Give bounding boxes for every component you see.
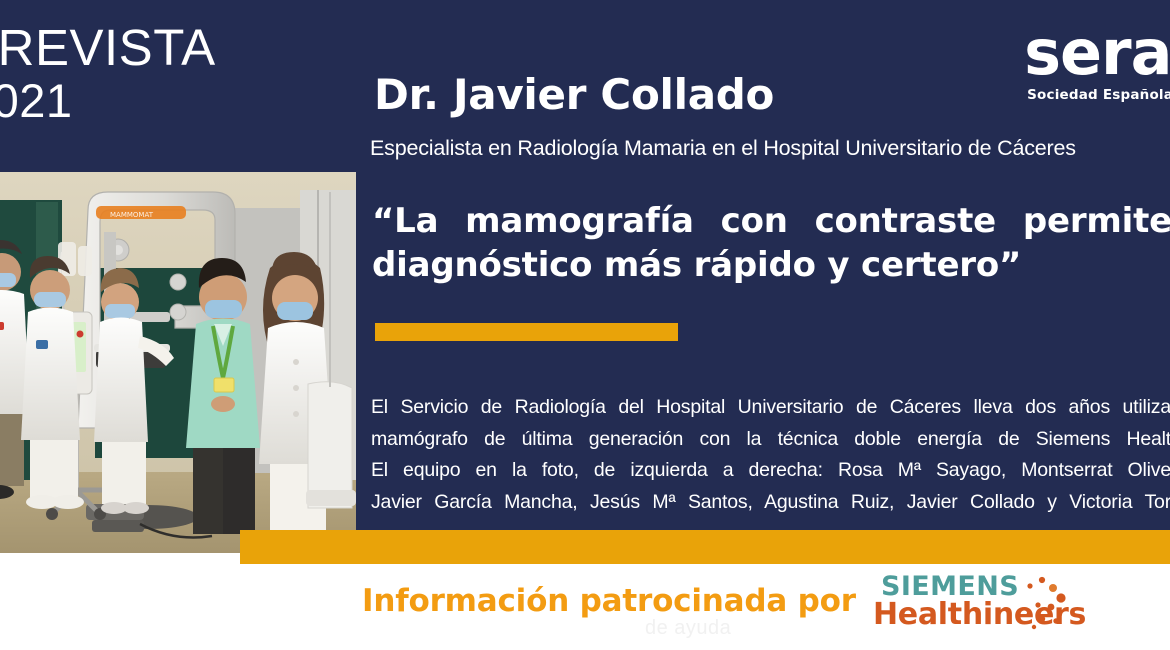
body-copy-line-2: mamógrafo de última generación con la té… xyxy=(371,424,1170,456)
sponsor-accent-bar xyxy=(240,530,1170,564)
masthead: TREVISTA 2021 xyxy=(0,22,306,124)
body-copy-line-4: Javier García Mancha, Jesús Mª Santos, A… xyxy=(371,487,1170,519)
masthead-year: 2021 xyxy=(0,77,306,124)
masthead-word: TREVISTA xyxy=(0,22,306,73)
body-copy: El Servicio de Radiología del Hospital U… xyxy=(371,392,1170,518)
background-ghost-text: de ayuda xyxy=(645,617,731,640)
pull-quote-line-1: “La mamografía con contraste permite xyxy=(372,200,1170,244)
body-copy-line-1: El Servicio de Radiología del Hospital U… xyxy=(371,392,1170,424)
interview-banner: TREVISTA 2021 sera Sociedad Española de … xyxy=(0,0,1170,650)
sponsor-label: Información patrocinada por xyxy=(362,583,856,619)
pull-quote-line-2: diagnóstico más rápido y certero” xyxy=(372,244,1170,288)
team-photo-image: MAMMOMAT xyxy=(0,172,356,553)
healthineers-dot-pattern-icon xyxy=(1020,573,1072,640)
svg-text:MAMMOMAT: MAMMOMAT xyxy=(110,211,154,219)
team-photo: MAMMOMAT xyxy=(0,172,356,553)
siemens-healthineers-logo: SIEMENS Healthineers xyxy=(873,571,1073,637)
page-subtitle: Especialista en Radiología Mamaria en el… xyxy=(370,136,1170,161)
accent-divider-bar xyxy=(375,323,678,341)
page-title: Dr. Javier Collado xyxy=(374,70,1170,119)
pull-quote: “La mamografía con contraste permite dia… xyxy=(372,200,1170,287)
body-copy-line-3: El equipo en la foto, de izquierda a der… xyxy=(371,455,1170,487)
